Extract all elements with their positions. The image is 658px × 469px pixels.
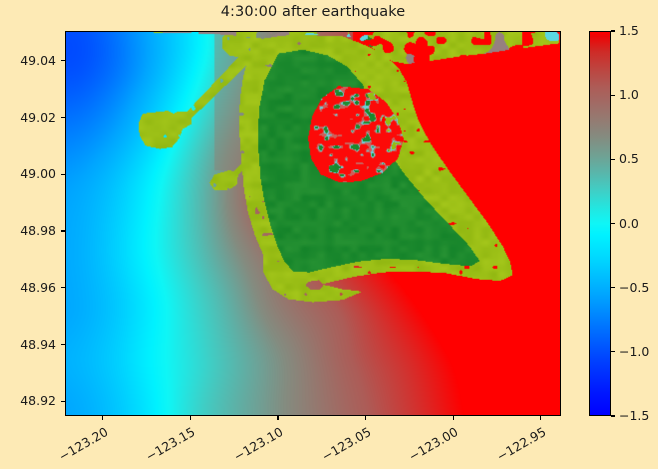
y-tick-label: 48.94 [0, 337, 56, 352]
page-title: 4:30:00 after earthquake [65, 4, 561, 20]
colorbar-tick-mark [611, 95, 615, 96]
x-tick-mark [540, 416, 541, 420]
colorbar-tick-mark [611, 159, 615, 160]
x-tick-mark [453, 416, 454, 420]
x-tick-mark [365, 416, 366, 420]
y-tick-mark [61, 117, 65, 118]
y-tick-label: 49.02 [0, 110, 56, 125]
tsunami-surface-heatmap [66, 32, 560, 415]
matplotlib-figure: 4:30:00 after earthquake 49.0449.0249.00… [0, 0, 658, 469]
y-tick-mark [61, 401, 65, 402]
colorbar-gradient [589, 31, 611, 416]
colorbar-tick-label: −1.5 [619, 408, 649, 423]
x-tick-mark [277, 416, 278, 420]
colorbar-tick-label: 1.5 [619, 23, 639, 38]
y-tick-mark [61, 344, 65, 345]
colorbar-tick-mark [611, 415, 615, 416]
y-tick-label: 48.92 [0, 393, 56, 408]
map-axes [65, 31, 561, 416]
x-tick-label: −123.20 [0, 424, 110, 469]
colorbar-tick-label: 1.0 [619, 87, 639, 102]
y-tick-mark [61, 60, 65, 61]
y-tick-mark [61, 230, 65, 231]
colorbar-tick-mark [611, 223, 615, 224]
y-tick-label: 49.00 [0, 166, 56, 181]
y-tick-label: 48.96 [0, 280, 56, 295]
x-tick-mark [102, 416, 103, 420]
y-tick-label: 49.04 [0, 53, 56, 68]
colorbar-tick-label: 0.5 [619, 151, 639, 166]
colorbar-tick-mark [611, 30, 615, 31]
colorbar-tick-label: −0.5 [619, 280, 649, 295]
colorbar [589, 31, 611, 416]
colorbar-tick-label: 0.0 [619, 216, 639, 231]
y-tick-mark [61, 287, 65, 288]
colorbar-tick-mark [611, 351, 615, 352]
y-tick-label: 48.98 [0, 223, 56, 238]
x-tick-mark [190, 416, 191, 420]
colorbar-tick-mark [611, 287, 615, 288]
colorbar-tick-label: −1.0 [619, 344, 649, 359]
y-tick-mark [61, 174, 65, 175]
